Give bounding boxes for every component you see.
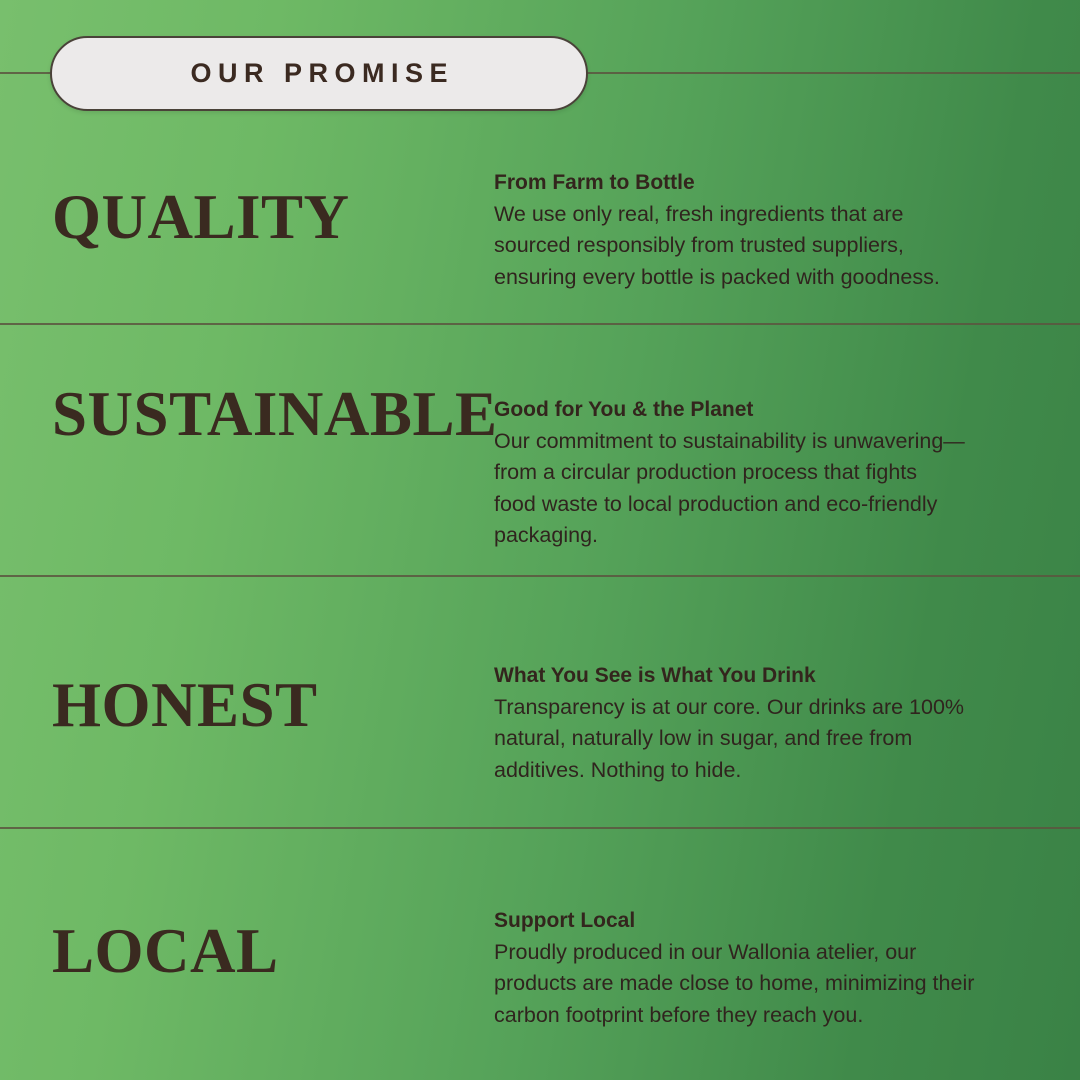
promise-copy: From Farm to Bottle We use only real, fr… bbox=[494, 170, 1054, 293]
promise-term: LOCAL bbox=[52, 920, 279, 983]
promise-term: HONEST bbox=[52, 674, 318, 737]
promise-body-line: food waste to local production and eco-f… bbox=[494, 489, 1054, 520]
promise-body-line: Our commitment to sustainability is unwa… bbox=[494, 426, 1054, 457]
divider-after-sustainable bbox=[0, 575, 1080, 577]
promise-body-line: sourced responsibly from trusted supplie… bbox=[494, 230, 1054, 261]
promise-body-line: products are made close to home, minimiz… bbox=[494, 968, 1054, 999]
promise-body-line: natural, naturally low in sugar, and fre… bbox=[494, 723, 1054, 754]
promise-copy: Support Local Proudly produced in our Wa… bbox=[494, 908, 1054, 1031]
promise-copy: Good for You & the Planet Our commitment… bbox=[494, 397, 1054, 551]
promise-body-line: Transparency is at our core. Our drinks … bbox=[494, 692, 1054, 723]
promise-body-line: ensuring every bottle is packed with goo… bbox=[494, 262, 1054, 293]
promise-body-line: Proudly produced in our Wallonia atelier… bbox=[494, 937, 1054, 968]
promise-headline: Good for You & the Planet bbox=[494, 397, 1054, 424]
promise-body-line: We use only real, fresh ingredients that… bbox=[494, 199, 1054, 230]
promise-headline: What You See is What You Drink bbox=[494, 663, 1054, 690]
eyebrow-pill: OUR PROMISE bbox=[50, 36, 588, 111]
promise-poster: OUR PROMISE QUALITY From Farm to Bottle … bbox=[0, 0, 1080, 1080]
promise-headline: From Farm to Bottle bbox=[494, 170, 1054, 197]
promise-body: Transparency is at our core. Our drinks … bbox=[494, 692, 1054, 786]
promise-copy: What You See is What You Drink Transpare… bbox=[494, 663, 1054, 786]
divider-after-honest bbox=[0, 827, 1080, 829]
eyebrow-label: OUR PROMISE bbox=[184, 58, 454, 89]
promise-term: SUSTAINABLE bbox=[52, 383, 498, 446]
divider-after-quality bbox=[0, 323, 1080, 325]
promise-body: We use only real, fresh ingredients that… bbox=[494, 199, 1054, 293]
promise-body-line: carbon footprint before they reach you. bbox=[494, 1000, 1054, 1031]
promise-body-line: additives. Nothing to hide. bbox=[494, 755, 1054, 786]
promise-body: Our commitment to sustainability is unwa… bbox=[494, 426, 1054, 552]
promise-body-line: packaging. bbox=[494, 520, 1054, 551]
promise-body-line: from a circular production process that … bbox=[494, 457, 1054, 488]
promise-body: Proudly produced in our Wallonia atelier… bbox=[494, 937, 1054, 1031]
promise-headline: Support Local bbox=[494, 908, 1054, 935]
promise-term: QUALITY bbox=[52, 186, 350, 249]
